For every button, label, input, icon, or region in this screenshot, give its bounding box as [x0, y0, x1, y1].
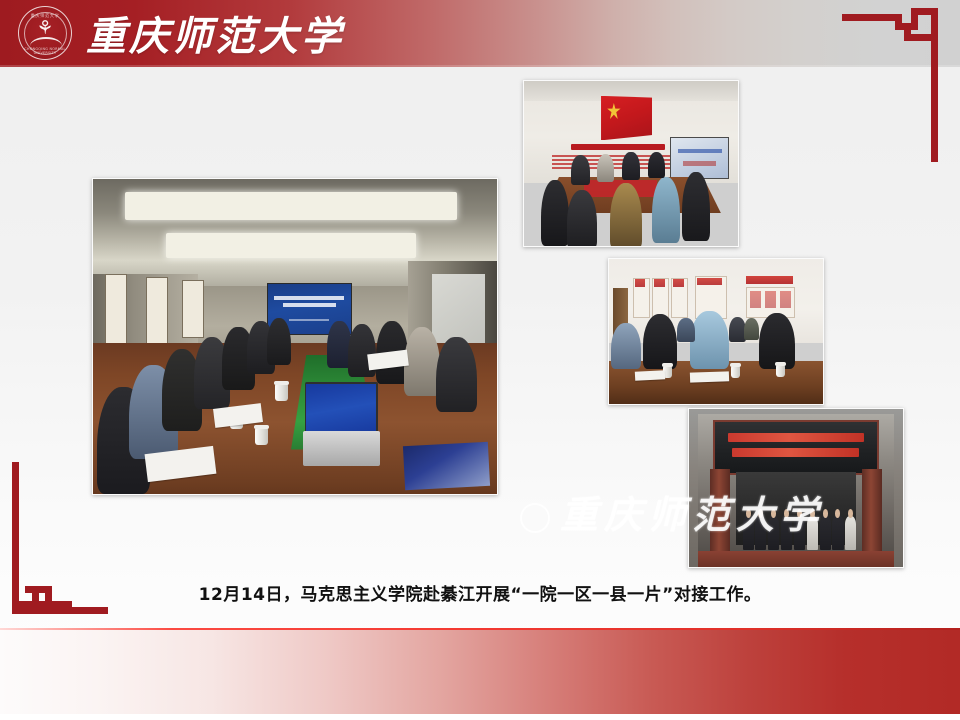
slide-caption: 12月14日，马克思主义学院赴綦江开展“一院一区一县一片”对接工作。	[0, 580, 960, 605]
group-member	[768, 516, 779, 549]
paper-cup	[776, 365, 785, 377]
seated-person	[610, 183, 642, 247]
panel-graphic	[750, 291, 761, 308]
laptop-keyboard	[303, 431, 380, 466]
screen-title-line1	[274, 296, 344, 300]
building-pillar	[710, 469, 729, 551]
led-welcome-banner	[713, 420, 880, 475]
seated-person	[267, 318, 291, 365]
party-flag	[601, 96, 652, 141]
seated-person	[567, 190, 597, 247]
group-member	[845, 516, 856, 549]
wall-scroll-art	[105, 274, 127, 345]
seal-center-glyph: ⚘	[19, 19, 71, 38]
wall-banner-title	[746, 276, 793, 283]
seated-person	[622, 152, 639, 180]
poster-red-header	[673, 279, 684, 286]
paper-cup	[731, 366, 740, 378]
watermark-seal-icon	[520, 503, 550, 533]
ceiling-light-panel	[125, 192, 456, 220]
entrance-steps	[698, 551, 895, 567]
blue-document-poster	[403, 441, 490, 489]
poster-red-header	[635, 279, 646, 286]
oath-heading-text	[571, 144, 665, 151]
seated-person	[652, 177, 680, 243]
group-member	[794, 516, 805, 549]
seated-person	[759, 313, 795, 370]
header-band: 重庆师范大学 ⚘ CHONGQING NORMAL UNIVERSITY 重庆师…	[0, 0, 960, 67]
open-notebook	[690, 371, 729, 382]
led-text-line2	[732, 448, 859, 457]
group-member	[743, 516, 754, 549]
laptop-screen	[305, 382, 378, 436]
group-member	[781, 516, 792, 549]
wall-scroll-art	[146, 277, 168, 348]
poster-red-header	[654, 279, 665, 286]
footer-band	[0, 630, 960, 716]
group-member	[807, 516, 818, 549]
seated-person	[541, 180, 569, 246]
seminar-attendees-photo[interactable]	[608, 258, 824, 405]
party-oath-meeting-photo[interactable]	[523, 80, 739, 247]
screen-title-line2	[283, 303, 336, 307]
group-member	[820, 516, 831, 549]
panel-graphic	[780, 291, 791, 308]
seated-person	[643, 314, 677, 369]
seated-person	[404, 327, 440, 396]
conference-room-photo[interactable]	[92, 178, 498, 495]
seated-person	[677, 318, 694, 341]
corner-bracket-top-right-icon	[842, 8, 938, 162]
open-notebook	[634, 370, 664, 380]
tea-cup	[255, 428, 268, 445]
seated-person	[648, 152, 665, 178]
campus-group-photo[interactable]	[688, 408, 904, 568]
seated-person	[682, 172, 710, 241]
led-text-line1	[728, 433, 865, 442]
seated-person	[611, 323, 641, 369]
university-seal-icon: 重庆师范大学 ⚘ CHONGQING NORMAL UNIVERSITY	[18, 6, 72, 60]
seal-bottom-text: CHONGQING NORMAL UNIVERSITY	[19, 47, 71, 55]
group-member	[755, 516, 766, 549]
seated-person	[571, 155, 590, 185]
hammer-sickle-emblem-icon	[607, 103, 620, 119]
group-member	[832, 516, 843, 549]
wall-scroll-art	[182, 280, 204, 339]
footer-base-strip	[0, 714, 960, 720]
seated-person	[744, 318, 759, 340]
seated-person	[597, 154, 614, 182]
seated-person	[690, 311, 729, 369]
chart-red-header	[697, 278, 723, 285]
slide-canvas: 重庆师范大学 ⚘ CHONGQING NORMAL UNIVERSITY 重庆师…	[0, 0, 960, 720]
ceiling-light-panel	[166, 233, 416, 258]
panel-graphic	[765, 291, 776, 308]
screen-subtitle	[289, 319, 329, 321]
university-name-title: 重庆师范大学	[86, 6, 344, 60]
seated-person	[436, 337, 476, 413]
building-pillar	[862, 469, 881, 551]
tea-cup	[275, 384, 288, 401]
